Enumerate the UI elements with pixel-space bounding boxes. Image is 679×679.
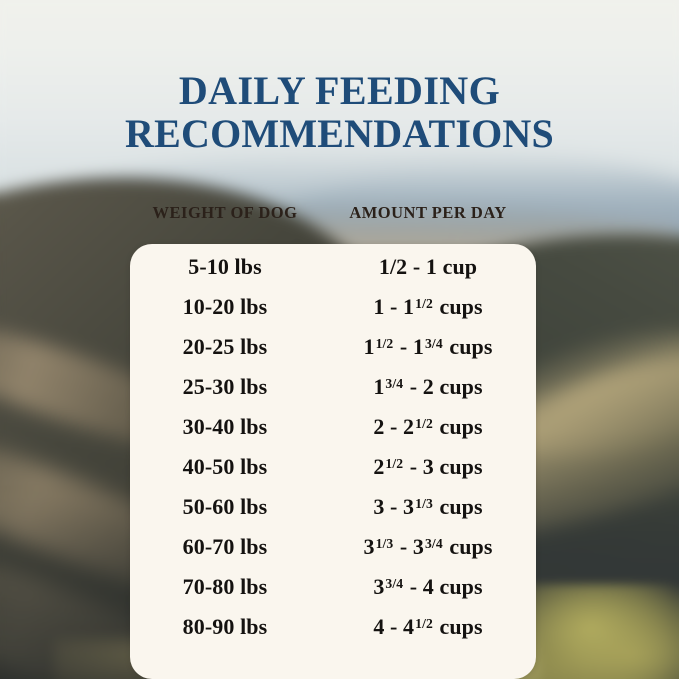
page-title-line-2: RECOMMENDATIONS xyxy=(0,112,679,155)
table-column-headers: WEIGHT OF DOG AMOUNT PER DAY xyxy=(130,203,536,223)
table-row: 40-50 lbs21/2 - 3 cups xyxy=(130,454,536,494)
table-row: 25-30 lbs13/4 - 2 cups xyxy=(130,374,536,414)
table-row: 80-90 lbs4 - 41/2 cups xyxy=(130,614,536,654)
cell-weight: 10-20 lbs xyxy=(130,294,320,320)
cell-weight: 70-80 lbs xyxy=(130,574,320,600)
cell-weight: 25-30 lbs xyxy=(130,374,320,400)
cell-amount: 33/4 - 4 cups xyxy=(320,574,536,600)
table-row: 70-80 lbs33/4 - 4 cups xyxy=(130,574,536,614)
cell-amount: 1/2 - 1 cup xyxy=(320,254,536,280)
cell-amount: 3 - 31/3 cups xyxy=(320,494,536,520)
cell-amount: 13/4 - 2 cups xyxy=(320,374,536,400)
column-header-weight: WEIGHT OF DOG xyxy=(130,203,320,223)
cell-amount: 1 - 11/2 cups xyxy=(320,294,536,320)
cell-amount: 11/2 - 13/4 cups xyxy=(320,334,536,360)
cell-weight: 40-50 lbs xyxy=(130,454,320,480)
cell-amount: 21/2 - 3 cups xyxy=(320,454,536,480)
page-title-line-1: DAILY FEEDING xyxy=(0,69,679,112)
table-row: 10-20 lbs1 - 11/2 cups xyxy=(130,294,536,334)
feeding-table-card: 5-10 lbs1/2 - 1 cup10-20 lbs1 - 11/2 cup… xyxy=(130,244,536,679)
cell-amount: 31/3 - 33/4 cups xyxy=(320,534,536,560)
table-row: 50-60 lbs3 - 31/3 cups xyxy=(130,494,536,534)
cell-weight: 30-40 lbs xyxy=(130,414,320,440)
table-row: 60-70 lbs31/3 - 33/4 cups xyxy=(130,534,536,574)
cell-amount: 4 - 41/2 cups xyxy=(320,614,536,640)
feeding-table-rows: 5-10 lbs1/2 - 1 cup10-20 lbs1 - 11/2 cup… xyxy=(130,254,536,654)
cell-amount: 2 - 21/2 cups xyxy=(320,414,536,440)
column-header-amount: AMOUNT PER DAY xyxy=(320,203,536,223)
table-row: 30-40 lbs2 - 21/2 cups xyxy=(130,414,536,454)
cell-weight: 60-70 lbs xyxy=(130,534,320,560)
cell-weight: 5-10 lbs xyxy=(130,254,320,280)
cell-weight: 20-25 lbs xyxy=(130,334,320,360)
table-row: 5-10 lbs1/2 - 1 cup xyxy=(130,254,536,294)
feeding-chart-poster: DAILY FEEDING RECOMMENDATIONS WEIGHT OF … xyxy=(0,0,679,679)
table-row: 20-25 lbs11/2 - 13/4 cups xyxy=(130,334,536,374)
cell-weight: 80-90 lbs xyxy=(130,614,320,640)
cell-weight: 50-60 lbs xyxy=(130,494,320,520)
page-title: DAILY FEEDING RECOMMENDATIONS xyxy=(0,69,679,155)
